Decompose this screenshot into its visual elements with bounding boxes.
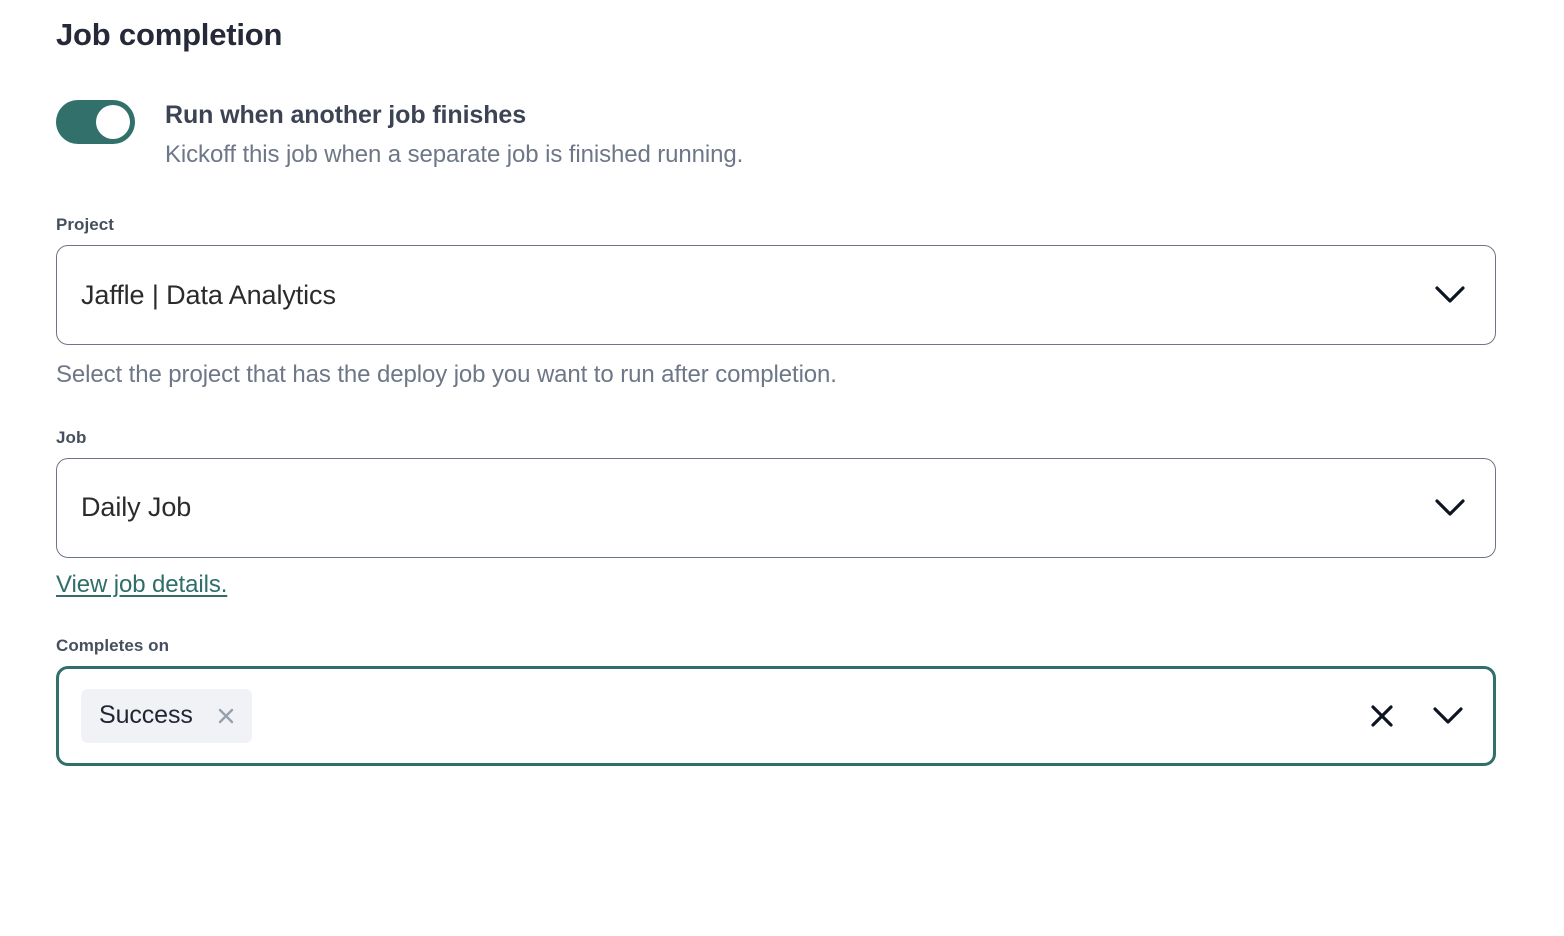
- completes-on-actions: [1369, 669, 1463, 763]
- selected-tag-success: Success: [81, 689, 252, 743]
- toggle-knob: [96, 105, 130, 139]
- run-when-another-job-finishes-toggle[interactable]: [56, 100, 135, 144]
- job-select[interactable]: Daily Job: [56, 458, 1496, 558]
- project-select-actions: [1435, 246, 1465, 344]
- close-icon[interactable]: [215, 705, 237, 727]
- toggle-label: Run when another job finishes: [165, 99, 743, 131]
- chevron-down-icon[interactable]: [1435, 286, 1465, 304]
- toggle-description: Kickoff this job when a separate job is …: [165, 140, 743, 171]
- completes-on-field: Completes on Success: [56, 635, 1508, 766]
- tag-label: Success: [99, 703, 193, 728]
- project-selected-value: Jaffle | Data Analytics: [81, 282, 336, 309]
- chevron-down-icon[interactable]: [1433, 707, 1463, 725]
- job-completion-panel: Job completion Run when another job fini…: [0, 0, 1564, 936]
- project-help-text: Select the project that has the deploy j…: [56, 360, 1508, 391]
- page-title: Job completion: [56, 0, 1508, 53]
- toggle-text-group: Run when another job finishes Kickoff th…: [165, 98, 743, 171]
- view-job-details-link[interactable]: View job details.: [56, 571, 227, 599]
- chevron-down-icon[interactable]: [1435, 499, 1465, 517]
- run-when-another-job-finishes-row: Run when another job finishes Kickoff th…: [56, 98, 1508, 171]
- job-select-actions: [1435, 459, 1465, 557]
- project-field: Project Jaffle | Data Analytics Select t…: [56, 214, 1508, 391]
- job-label: Job: [56, 427, 1508, 449]
- project-select[interactable]: Jaffle | Data Analytics: [56, 245, 1496, 345]
- clear-icon[interactable]: [1369, 703, 1395, 729]
- project-label: Project: [56, 214, 1508, 236]
- job-selected-value: Daily Job: [81, 494, 191, 521]
- job-field: Job Daily Job View job details.: [56, 427, 1508, 599]
- completes-on-label: Completes on: [56, 635, 1508, 657]
- completes-on-multiselect[interactable]: Success: [56, 666, 1496, 766]
